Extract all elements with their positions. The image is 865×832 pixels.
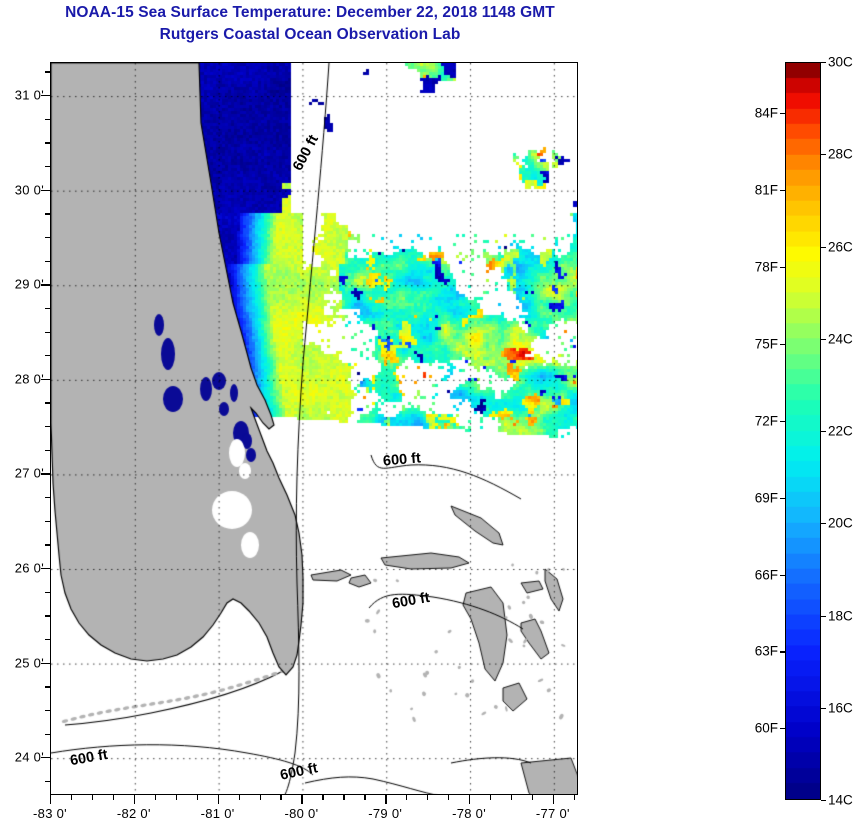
x-tick-major xyxy=(385,795,386,804)
colorbar-tick-celsius xyxy=(821,339,826,340)
y-tick-minor xyxy=(45,497,50,498)
colorbar-label-celsius: 28C xyxy=(828,147,853,162)
y-tick-minor xyxy=(45,166,50,167)
y-tick-minor xyxy=(45,308,50,309)
x-tick-minor xyxy=(176,795,177,800)
x-axis-label: -82 0' xyxy=(117,806,151,821)
colorbar-tick-fahrenheit xyxy=(780,651,785,652)
colorbar-label-fahrenheit: 75F xyxy=(755,336,778,351)
x-tick-minor xyxy=(260,795,261,800)
title-line-1: NOAA-15 Sea Surface Temperature: Decembe… xyxy=(0,2,620,24)
colorbar-tick-fahrenheit xyxy=(780,575,785,576)
y-axis-label: 30 0' xyxy=(0,182,44,197)
colorbar-label-fahrenheit: 81F xyxy=(755,183,778,198)
colorbar-label-celsius: 24C xyxy=(828,331,853,346)
sst-map-plot xyxy=(50,62,578,795)
y-tick-minor xyxy=(45,355,50,356)
x-tick-minor xyxy=(364,795,365,800)
y-tick-minor xyxy=(45,261,50,262)
colorbar-label-celsius: 18C xyxy=(828,608,853,623)
contour-label-600ft: 600 ft xyxy=(382,450,421,469)
x-tick-major xyxy=(50,795,51,804)
y-tick-minor xyxy=(45,639,50,640)
x-axis-label: -78 0' xyxy=(452,806,486,821)
colorbar-tick-celsius xyxy=(821,708,826,709)
colorbar-tick-celsius xyxy=(821,800,826,801)
x-tick-minor xyxy=(322,795,323,800)
colorbar-tick-fahrenheit xyxy=(780,344,785,345)
x-axis-label: -79 0' xyxy=(368,806,402,821)
colorbar-tick-celsius xyxy=(821,616,826,617)
colorbar-label-fahrenheit: 60F xyxy=(755,721,778,736)
y-tick-minor xyxy=(45,521,50,522)
y-tick-minor xyxy=(45,450,50,451)
x-axis-label: -77 0' xyxy=(536,806,570,821)
x-tick-minor xyxy=(92,795,93,800)
colorbar-tick-fahrenheit xyxy=(780,498,785,499)
x-tick-minor xyxy=(532,795,533,800)
y-axis-label: 27 0' xyxy=(0,466,44,481)
colorbar-label-fahrenheit: 72F xyxy=(755,413,778,428)
y-tick-minor xyxy=(45,142,50,143)
y-tick-minor xyxy=(45,237,50,238)
y-tick-minor xyxy=(45,781,50,782)
y-axis-label: 26 0' xyxy=(0,561,44,576)
y-tick-minor xyxy=(45,71,50,72)
y-tick-minor xyxy=(45,544,50,545)
y-tick-minor xyxy=(45,734,50,735)
colorbar-label-fahrenheit: 84F xyxy=(755,106,778,121)
x-tick-major xyxy=(218,795,219,804)
y-tick-minor xyxy=(45,213,50,214)
colorbar-label-fahrenheit: 63F xyxy=(755,644,778,659)
colorbar-label-celsius: 30C xyxy=(828,55,853,70)
y-tick-minor xyxy=(45,426,50,427)
x-tick-minor xyxy=(71,795,72,800)
y-tick-minor xyxy=(45,332,50,333)
y-tick-minor xyxy=(45,402,50,403)
colorbar-tick-fahrenheit xyxy=(780,190,785,191)
x-tick-minor xyxy=(490,795,491,800)
colorbar-label-celsius: 26C xyxy=(828,239,853,254)
x-tick-major xyxy=(469,795,470,804)
x-axis-label: -80 0' xyxy=(284,806,318,821)
x-tick-minor xyxy=(239,795,240,800)
colorbar-tick-celsius xyxy=(821,431,826,432)
y-tick-minor xyxy=(45,710,50,711)
x-tick-major xyxy=(553,795,554,804)
y-axis-label: 24 0' xyxy=(0,750,44,765)
colorbar-tick-fahrenheit xyxy=(780,113,785,114)
y-tick-minor xyxy=(45,615,50,616)
colorbar-label-celsius: 20C xyxy=(828,516,853,531)
colorbar-tick-celsius xyxy=(821,247,826,248)
x-tick-minor xyxy=(343,795,344,800)
x-tick-minor xyxy=(155,795,156,800)
sst-raster-canvas xyxy=(51,63,578,795)
x-tick-minor xyxy=(427,795,428,800)
x-tick-minor xyxy=(448,795,449,800)
x-tick-minor xyxy=(574,795,575,800)
colorbar-gradient xyxy=(785,62,821,800)
y-tick-minor xyxy=(45,592,50,593)
colorbar-tick-fahrenheit xyxy=(780,728,785,729)
title-line-2: Rutgers Coastal Ocean Observation Lab xyxy=(0,24,620,46)
x-tick-minor xyxy=(113,795,114,800)
x-tick-major xyxy=(301,795,302,804)
x-axis-label: -81 0' xyxy=(201,806,235,821)
colorbar-label-celsius: 16C xyxy=(828,700,853,715)
colorbar-label-fahrenheit: 69F xyxy=(755,490,778,505)
colorbar-tick-fahrenheit xyxy=(780,267,785,268)
colorbar-tick-celsius xyxy=(821,62,826,63)
colorbar-label-celsius: 22C xyxy=(828,424,853,439)
y-axis-label: 31 0' xyxy=(0,88,44,103)
colorbar-tick-fahrenheit xyxy=(780,421,785,422)
x-tick-minor xyxy=(280,795,281,800)
x-tick-minor xyxy=(511,795,512,800)
x-tick-minor xyxy=(406,795,407,800)
colorbar: 30C28C26C24C22C20C18C16C14C84F81F78F75F7… xyxy=(785,62,821,800)
y-tick-minor xyxy=(45,119,50,120)
colorbar-label-celsius: 14C xyxy=(828,793,853,808)
colorbar-tick-celsius xyxy=(821,154,826,155)
colorbar-canvas xyxy=(786,63,820,799)
y-axis-label: 29 0' xyxy=(0,277,44,292)
y-tick-minor xyxy=(45,686,50,687)
y-axis-label: 28 0' xyxy=(0,371,44,386)
y-axis-label: 25 0' xyxy=(0,655,44,670)
x-tick-major xyxy=(134,795,135,804)
page-title: NOAA-15 Sea Surface Temperature: Decembe… xyxy=(0,2,620,46)
colorbar-label-fahrenheit: 78F xyxy=(755,260,778,275)
x-tick-minor xyxy=(197,795,198,800)
colorbar-tick-celsius xyxy=(821,523,826,524)
x-axis-label: -83 0' xyxy=(33,806,67,821)
colorbar-label-fahrenheit: 66F xyxy=(755,567,778,582)
